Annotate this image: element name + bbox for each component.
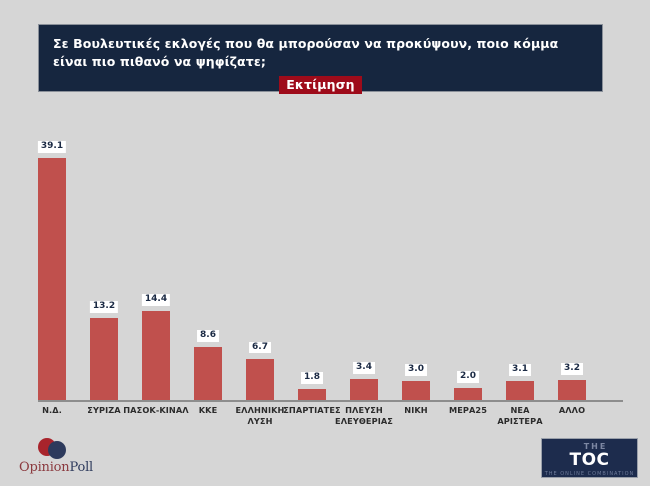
question-header-box: Σε Βουλευτικές εκλογές που θα μπορούσαν … bbox=[38, 24, 603, 92]
bar-value-label: 6.7 bbox=[249, 342, 271, 354]
bar[interactable]: 13.2 bbox=[90, 318, 118, 400]
bar[interactable]: 3.1 bbox=[506, 381, 534, 400]
bar-group[interactable]: 2.0ΜΕΡΑ25 bbox=[442, 388, 494, 400]
bar-value-label: 3.0 bbox=[405, 364, 427, 376]
thetoc-sub-text: THE ONLINE COMBINATION bbox=[542, 471, 637, 477]
opinionpoll-circles-icon bbox=[8, 437, 104, 459]
bar-value-label: 2.0 bbox=[457, 371, 479, 383]
opinionpoll-wordmark: OpinionPoll bbox=[8, 460, 104, 475]
bar-group[interactable]: 3.0ΝΙΚΗ bbox=[390, 381, 442, 400]
estimate-badge: Εκτίμηση bbox=[279, 76, 362, 94]
x-axis-line bbox=[38, 400, 623, 402]
bar-value-label: 39.1 bbox=[38, 141, 66, 153]
bar-group[interactable]: 1.8ΣΠΑΡΤΙΑΤΕΣ bbox=[286, 389, 338, 400]
bar-value-label: 3.2 bbox=[561, 363, 583, 375]
bar-group[interactable]: 14.4ΠΑΣΟΚ-ΚΙΝΑΛ bbox=[130, 311, 182, 400]
bar-group[interactable]: 39.1Ν.Δ. bbox=[26, 158, 78, 400]
question-text: Σε Βουλευτικές εκλογές που θα μπορούσαν … bbox=[53, 35, 588, 71]
bar[interactable]: 39.1 bbox=[38, 158, 66, 400]
bar-value-label: 3.1 bbox=[509, 364, 531, 376]
bar-value-label: 1.8 bbox=[301, 372, 323, 384]
bar-value-label: 8.6 bbox=[197, 330, 219, 342]
bar-group[interactable]: 3.4ΠΛΕΥΣΗ ΕΛΕΥΘΕΡΙΑΣ bbox=[338, 379, 390, 400]
bar-group[interactable]: 13.2ΣΥΡΙΖΑ bbox=[78, 318, 130, 400]
category-label: ΑΛΛΟ bbox=[539, 405, 605, 416]
bar-group[interactable]: 3.2ΑΛΛΟ bbox=[546, 380, 598, 400]
bar[interactable]: 6.7 bbox=[246, 359, 274, 400]
bar[interactable]: 8.6 bbox=[194, 347, 222, 400]
bar[interactable]: 3.0 bbox=[402, 381, 430, 400]
bar-chart: 39.1Ν.Δ.13.2ΣΥΡΙΖΑ14.4ΠΑΣΟΚ-ΚΙΝΑΛ8.6ΚΚΕ6… bbox=[0, 100, 650, 440]
bar-value-label: 13.2 bbox=[90, 301, 118, 313]
opinionpoll-logo: OpinionPoll bbox=[8, 437, 104, 481]
bar[interactable]: 2.0 bbox=[454, 388, 482, 400]
bar[interactable]: 1.8 bbox=[298, 389, 326, 400]
thetoc-main-text: TOC bbox=[542, 452, 637, 469]
estimate-badge-row: Εκτίμηση bbox=[53, 74, 588, 94]
thetoc-logo: THE TOC THE ONLINE COMBINATION bbox=[541, 438, 638, 478]
bar-value-label: 3.4 bbox=[353, 362, 375, 374]
opinionpoll-word-opinion: Opinion bbox=[19, 460, 69, 475]
opinionpoll-blue-circle-icon bbox=[48, 441, 66, 459]
bar[interactable]: 3.4 bbox=[350, 379, 378, 400]
bar-group[interactable]: 3.1ΝΕΑ ΑΡΙΣΤΕΡΑ bbox=[494, 381, 546, 400]
bar-value-label: 14.4 bbox=[142, 294, 170, 306]
bar[interactable]: 3.2 bbox=[558, 380, 586, 400]
bar-group[interactable]: 8.6ΚΚΕ bbox=[182, 347, 234, 400]
bar-group[interactable]: 6.7ΕΛΛΗΝΙΚΗ ΛΥΣΗ bbox=[234, 359, 286, 400]
opinionpoll-word-poll: Poll bbox=[69, 460, 93, 475]
bar[interactable]: 14.4 bbox=[142, 311, 170, 400]
